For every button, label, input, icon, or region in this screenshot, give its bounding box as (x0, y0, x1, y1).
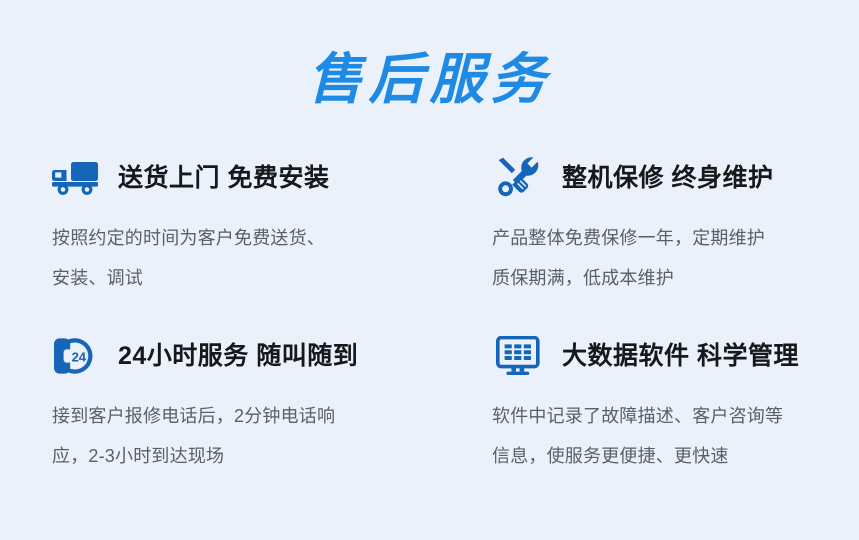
feature-grid: 送货上门 免费安装 按照约定的时间为客户免费送货、 安装、调试 (0, 152, 859, 508)
feature-description: 软件中记录了故障描述、客户咨询等 信息，使服务更便捷、更快速 (492, 396, 844, 476)
feature-header: 整机保修 终身维护 (496, 152, 859, 204)
feature-card-big-data: 大数据软件 科学管理 软件中记录了故障描述、客户咨询等 信息，使服务更便捷、更快… (491, 330, 859, 508)
feature-description: 产品整体免费保修一年，定期维护 质保期满，低成本维护 (492, 218, 844, 298)
feature-card-warranty: 整机保修 终身维护 产品整体免费保修一年，定期维护 质保期满，低成本维护 (491, 152, 859, 330)
monitor-data-icon (496, 334, 544, 378)
feature-header: 大数据软件 科学管理 (496, 330, 859, 382)
feature-title: 大数据软件 科学管理 (562, 341, 799, 371)
feature-header: 24 24小时服务 随叫随到 (52, 330, 472, 382)
feature-title: 整机保修 终身维护 (562, 163, 773, 193)
feature-title: 送货上门 免费安装 (118, 163, 329, 193)
feature-card-delivery: 送货上门 免费安装 按照约定的时间为客户免费送货、 安装、调试 (52, 152, 472, 330)
feature-description: 接到客户报修电话后，2分钟电话响 应，2-3小时到达现场 (52, 396, 404, 476)
delivery-truck-icon (52, 156, 100, 200)
feature-header: 送货上门 免费安装 (52, 152, 472, 204)
phone-24h-support-icon: 24 (52, 334, 100, 378)
after-sales-service-page: 售后服务 (0, 0, 859, 540)
wrench-screwdriver-icon (496, 156, 544, 200)
icon-label-24: 24 (72, 350, 87, 365)
page-title: 售后服务 (0, 48, 859, 110)
feature-description: 按照约定的时间为客户免费送货、 安装、调试 (52, 218, 404, 298)
feature-title: 24小时服务 随叫随到 (118, 341, 358, 371)
feature-card-24h-service: 24 24小时服务 随叫随到 接到客户报修电话后，2分钟电话响 应，2-3小时到… (52, 330, 472, 508)
